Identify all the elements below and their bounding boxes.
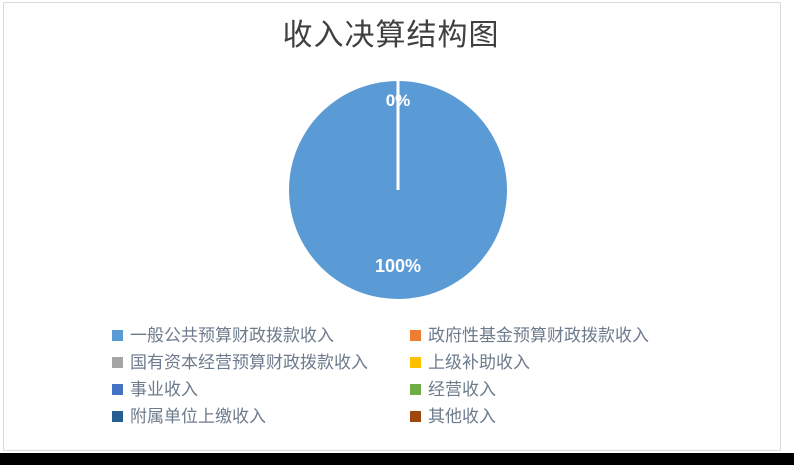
pie-data-label-hundred: 100% [289, 256, 507, 277]
bottom-black-bar [0, 453, 794, 465]
legend-row: 一般公共预算财政拨款收入 政府性基金预算财政拨款收入 [112, 322, 672, 349]
chart-container: 收入决算结构图 0% 100% 一般公共预算财政拨款收入 政府性基金预算财政拨款… [0, 0, 794, 453]
legend-swatch-icon [112, 411, 123, 422]
legend-item-label: 一般公共预算财政拨款收入 [130, 326, 334, 346]
chart-title: 收入决算结构图 [0, 16, 782, 56]
legend-swatch-icon [410, 384, 421, 395]
legend-swatch-icon [410, 357, 421, 368]
legend-item-label: 国有资本经营预算财政拨款收入 [130, 353, 368, 373]
legend-item-general-public-budget[interactable]: 一般公共预算财政拨款收入 [112, 322, 410, 349]
legend-item-state-capital-budget[interactable]: 国有资本经营预算财政拨款收入 [112, 349, 410, 376]
legend-item-label: 经营收入 [428, 380, 496, 400]
legend-row: 国有资本经营预算财政拨款收入 上级补助收入 [112, 349, 672, 376]
legend-swatch-icon [112, 357, 123, 368]
legend-item-label: 上级补助收入 [428, 353, 530, 373]
legend-swatch-icon [112, 384, 123, 395]
legend-swatch-icon [410, 330, 421, 341]
legend-item-label: 其他收入 [428, 407, 496, 427]
chart-legend: 一般公共预算财政拨款收入 政府性基金预算财政拨款收入 国有资本经营预算财政拨款收… [112, 322, 672, 430]
legend-item-affiliated-units-income[interactable]: 附属单位上缴收入 [112, 403, 410, 430]
legend-row: 附属单位上缴收入 其他收入 [112, 403, 672, 430]
legend-item-business-income[interactable]: 事业收入 [112, 376, 410, 403]
legend-row: 事业收入 经营收入 [112, 376, 672, 403]
legend-item-government-fund-budget[interactable]: 政府性基金预算财政拨款收入 [410, 322, 649, 349]
legend-swatch-icon [410, 411, 421, 422]
pie-plot-area: 0% 100% [289, 81, 507, 299]
legend-item-label: 附属单位上缴收入 [130, 407, 266, 427]
legend-item-other-income[interactable]: 其他收入 [410, 403, 496, 430]
legend-item-operating-income[interactable]: 经营收入 [410, 376, 496, 403]
legend-swatch-icon [112, 330, 123, 341]
legend-item-label: 政府性基金预算财政拨款收入 [428, 326, 649, 346]
legend-item-label: 事业收入 [130, 380, 198, 400]
pie-data-label-zero: 0% [289, 91, 507, 111]
legend-item-superior-subsidy[interactable]: 上级补助收入 [410, 349, 530, 376]
